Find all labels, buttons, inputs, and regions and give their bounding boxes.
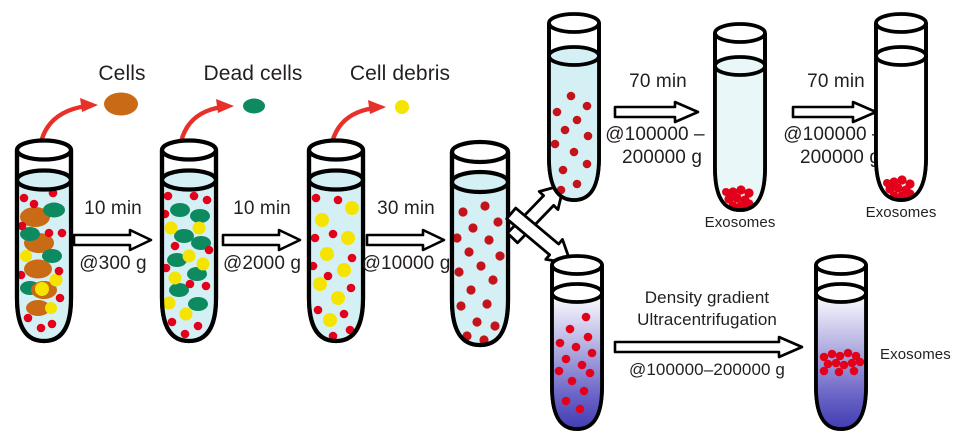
step-uc-1-arrow <box>613 100 701 124</box>
step-2000g-time: 10 min <box>233 198 291 220</box>
tube-3-after-2000g <box>300 138 372 348</box>
tube-6-caption: Exosomes <box>705 214 776 231</box>
step-10000g-time: 30 min <box>377 198 435 220</box>
step-300g-force: @300 g <box>79 253 146 275</box>
tube-9-gradient-band <box>808 255 874 435</box>
legend-swatch-cell-debris <box>395 100 409 114</box>
diagram-canvas: Cells Dead cells Cell debris <box>0 0 969 436</box>
step-300g-time: 10 min <box>84 198 142 220</box>
tube-1-culture <box>8 138 80 348</box>
step-density-gradient-force: @100000–200000 g <box>629 360 785 380</box>
step-10000g-force: @10000 g <box>362 253 451 275</box>
step-uc-2-time: 70 min <box>807 71 865 93</box>
step-2000g-force: @2000 g <box>223 253 301 275</box>
tube-2-after-300g <box>153 138 225 348</box>
step-density-gradient-arrow <box>613 335 805 359</box>
legend-swatch-dead-cells <box>243 99 265 114</box>
step-300g-arrow <box>72 228 154 252</box>
tube-7-caption: Exosomes <box>866 204 937 221</box>
legend-swatch-cells <box>104 93 138 116</box>
step-density-gradient-line2: Ultracentrifugation <box>637 310 777 330</box>
exosome-pellet-tube-7 <box>883 175 915 206</box>
tube-6-uc-pellet <box>707 22 773 218</box>
exosome-pellet-tube-6 <box>722 185 754 216</box>
tube-8-gradient-input <box>544 255 610 435</box>
step-uc-2-arrow <box>791 100 879 124</box>
step-2000g-arrow <box>221 228 303 252</box>
tube-5-uc-input <box>541 12 607 208</box>
step-10000g-arrow <box>365 228 447 252</box>
tube-7-uc-pellet-final <box>868 12 934 208</box>
step-uc-1-time: 70 min <box>629 71 687 93</box>
tube-9-caption: Exosomes <box>880 346 951 363</box>
step-uc-1-force-line1: @100000 – <box>605 124 704 146</box>
step-uc-1-force-line2: 200000 g <box>622 147 702 169</box>
step-density-gradient-line1: Density gradient <box>645 288 769 308</box>
